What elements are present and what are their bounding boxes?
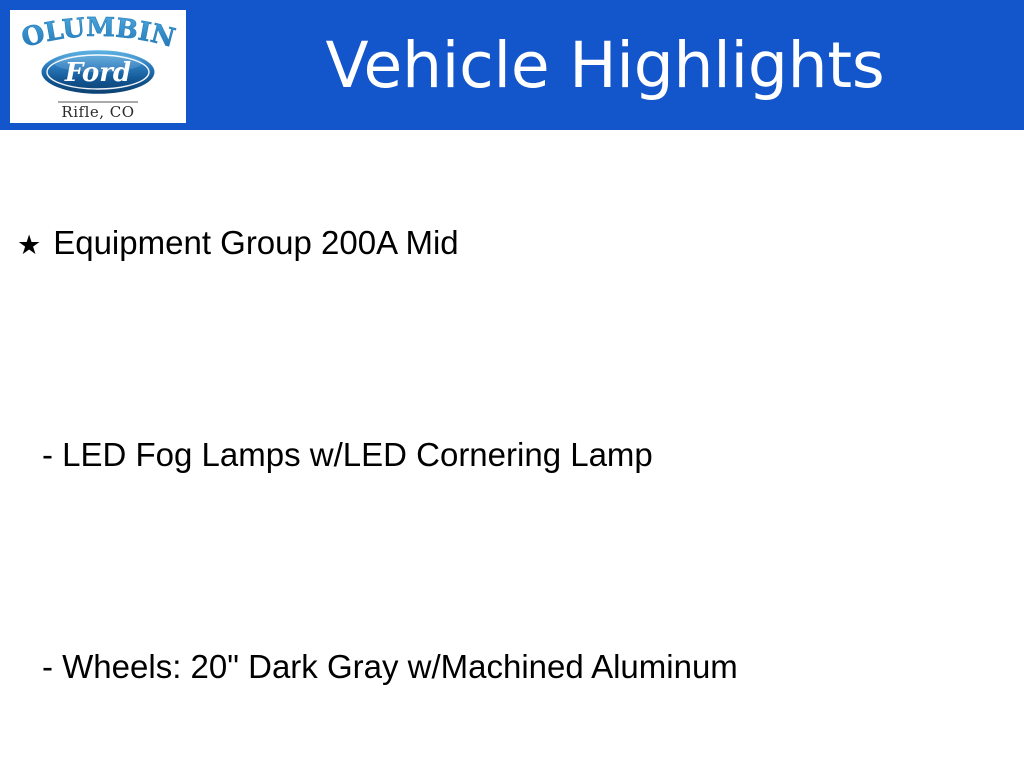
list-item: - LED Fog Lamps w/LED Cornering Lamp bbox=[42, 438, 653, 471]
list-item: - Wheels: 20" Dark Gray w/Machined Alumi… bbox=[42, 650, 738, 683]
star-bullet-icon: ★ bbox=[17, 232, 41, 259]
slide-content: ★ Equipment Group 200A Mid - LED Fog Lam… bbox=[0, 130, 1024, 768]
list-item-label: Equipment Group 200A Mid bbox=[53, 226, 458, 259]
list-item-label: - LED Fog Lamps w/LED Cornering Lamp bbox=[42, 438, 653, 471]
svg-text:Rifle, CO: Rifle, CO bbox=[61, 103, 134, 121]
columbine-ford-logo-icon: COLUMBINE Ford Rifle, CO bbox=[10, 10, 186, 123]
dealer-logo: COLUMBINE Ford Rifle, CO bbox=[10, 10, 186, 123]
page-title: Vehicle Highlights bbox=[186, 0, 1024, 130]
list-item-label: - Wheels: 20" Dark Gray w/Machined Alumi… bbox=[42, 650, 738, 683]
svg-text:Ford: Ford bbox=[64, 58, 131, 88]
list-item: ★ Equipment Group 200A Mid bbox=[17, 226, 459, 259]
